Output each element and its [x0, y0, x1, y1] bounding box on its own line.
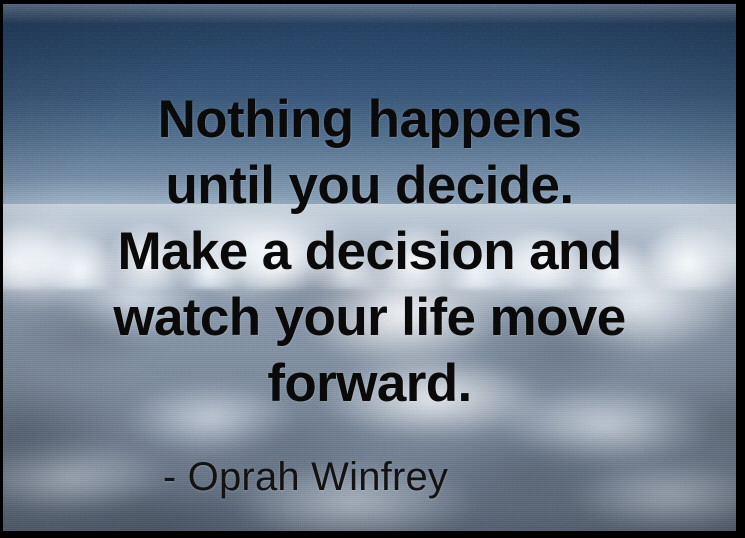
background-photo: Nothing happens until you decide. Make a…	[3, 4, 736, 531]
quote-line-5: forward.	[3, 357, 736, 410]
quote-line-2: until you decide.	[3, 159, 736, 212]
quote-attribution: - Oprah Winfrey	[3, 455, 736, 499]
quote-text-block: Nothing happens until you decide. Make a…	[3, 4, 736, 531]
quote-line-4: watch your life move	[3, 291, 736, 344]
quote-line-1: Nothing happens	[3, 93, 736, 146]
quote-line-3: Make a decision and	[3, 225, 736, 278]
quote-poster: Nothing happens until you decide. Make a…	[0, 0, 745, 538]
